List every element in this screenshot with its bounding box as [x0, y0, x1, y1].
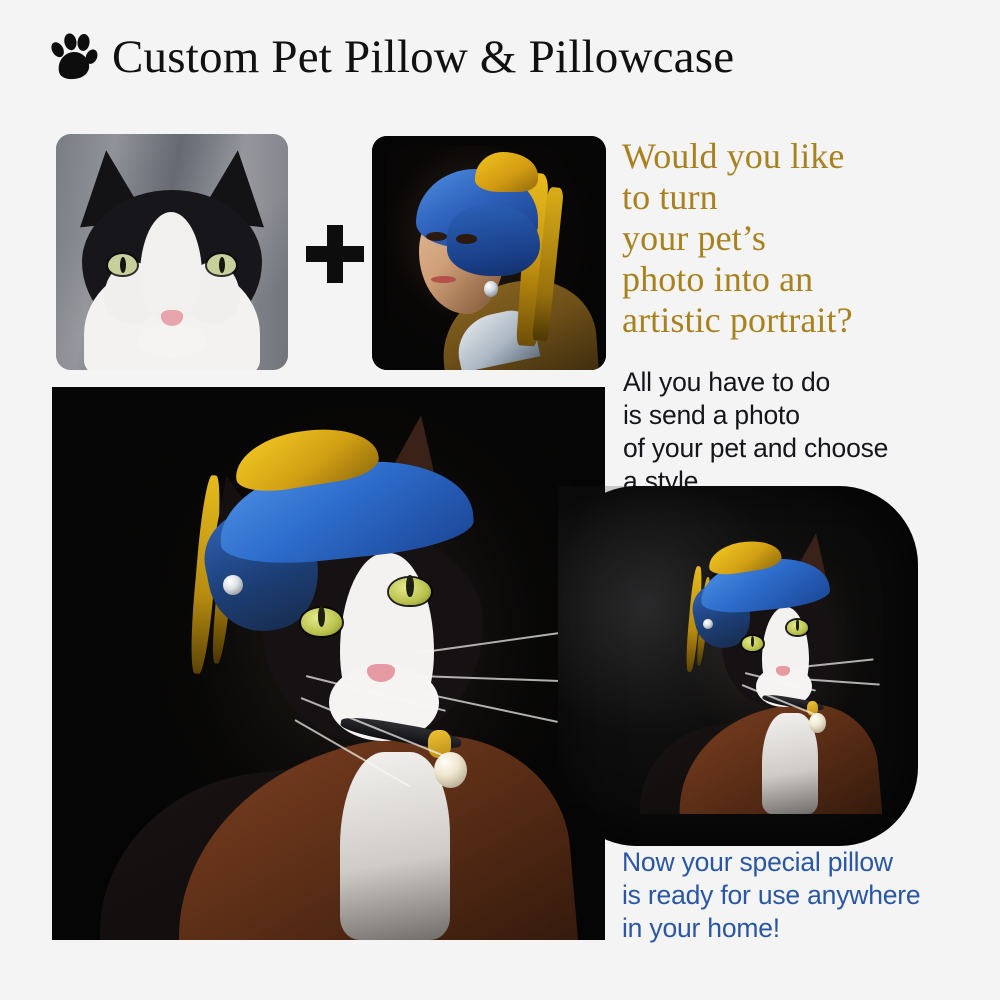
art-style-thumbnail[interactable]	[372, 136, 606, 370]
paw-print-icon	[49, 29, 98, 85]
tuxedo-cat-photo	[56, 134, 288, 370]
headline-line-4: photo into an	[622, 259, 972, 300]
pet-photo-thumbnail[interactable]	[56, 134, 288, 370]
headline-line-5: artistic portrait?	[622, 300, 972, 341]
cat-portrait-artwork	[52, 387, 605, 940]
instructions-line-3: of your pet and choose	[623, 432, 973, 465]
closing-line-3: in your home!	[622, 912, 982, 945]
headline-line-3: your pet’s	[622, 218, 972, 259]
page-title: Custom Pet Pillow & Pillowcase	[112, 34, 734, 81]
girl-with-pearl-earring-painting	[372, 136, 606, 370]
headline-line-1: Would you like	[622, 136, 972, 177]
page-header: Custom Pet Pillow & Pillowcase	[52, 26, 952, 88]
closing-text: Now your special pillow is ready for use…	[622, 846, 982, 945]
headline-text: Would you like to turn your pet’s photo …	[622, 136, 972, 341]
main-portrait-image[interactable]	[52, 387, 605, 940]
headline-line-2: to turn	[622, 177, 972, 218]
instructions-text: All you have to do is send a photo of yo…	[623, 366, 973, 498]
plus-operator-icon	[306, 225, 364, 283]
pillow-product-image[interactable]	[558, 486, 918, 846]
poster-canvas: Custom Pet Pillow & Pillowcase	[0, 0, 1000, 1000]
instructions-line-1: All you have to do	[623, 366, 973, 399]
closing-line-2: is ready for use anywhere	[622, 879, 982, 912]
closing-line-1: Now your special pillow	[622, 846, 982, 879]
pillow-printed-artwork	[616, 518, 897, 813]
instructions-line-2: is send a photo	[623, 399, 973, 432]
